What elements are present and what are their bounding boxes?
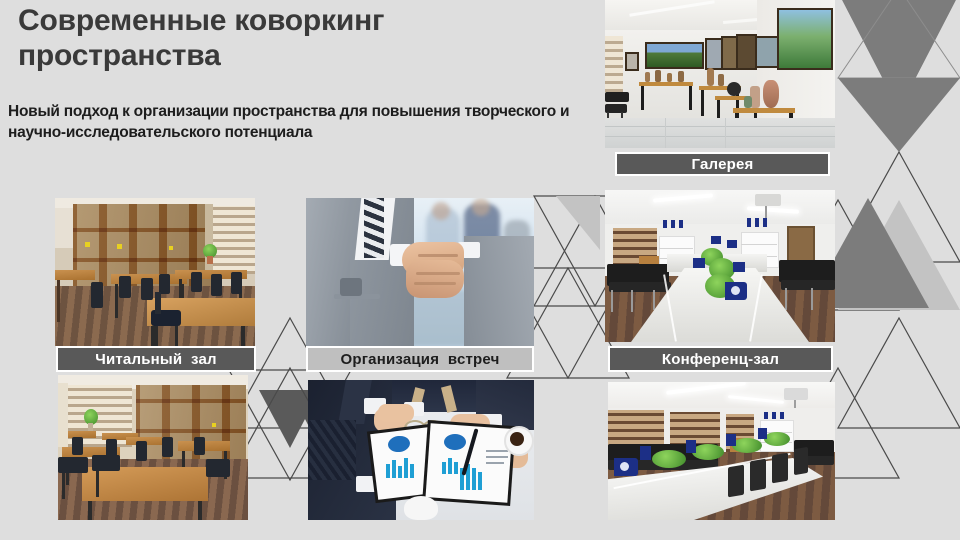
- triangle-outline: [838, 0, 960, 78]
- painting: [777, 8, 833, 70]
- meetings-caption: Организация встреч: [306, 346, 534, 372]
- triangle-filled: [838, 0, 960, 110]
- page-title: Современные коворкинг пространства: [18, 4, 578, 74]
- meetings-photo: [306, 198, 534, 346]
- conference-hall-secondary-photo: [608, 382, 835, 520]
- slide-root: Современные коворкинг пространства Новый…: [0, 0, 960, 540]
- conference-hall-caption: Конференц-зал: [608, 346, 833, 372]
- conference-hall-photo: [605, 190, 835, 342]
- triangle-filled: [838, 0, 960, 110]
- painting: [645, 42, 704, 69]
- triangle-filled: [838, 200, 960, 310]
- triangle-filled: [838, 78, 960, 152]
- projector: [784, 388, 808, 400]
- painting: [755, 36, 779, 68]
- meeting-table-photo: [308, 380, 534, 520]
- gallery-photo: [605, 0, 835, 148]
- reading-room-photo: [55, 198, 255, 346]
- reading-room-caption: Читальный зал: [56, 346, 256, 372]
- projector: [755, 194, 781, 206]
- page-subtitle: Новый подход к организации пространства …: [8, 102, 608, 144]
- triangle-outline: [838, 152, 960, 262]
- reading-room-secondary-photo: [58, 375, 248, 520]
- painting: [736, 34, 757, 70]
- triangle-outline: [838, 318, 960, 428]
- triangle-filled: [556, 196, 600, 250]
- painting: [625, 52, 639, 71]
- gallery-caption: Галерея: [615, 152, 830, 176]
